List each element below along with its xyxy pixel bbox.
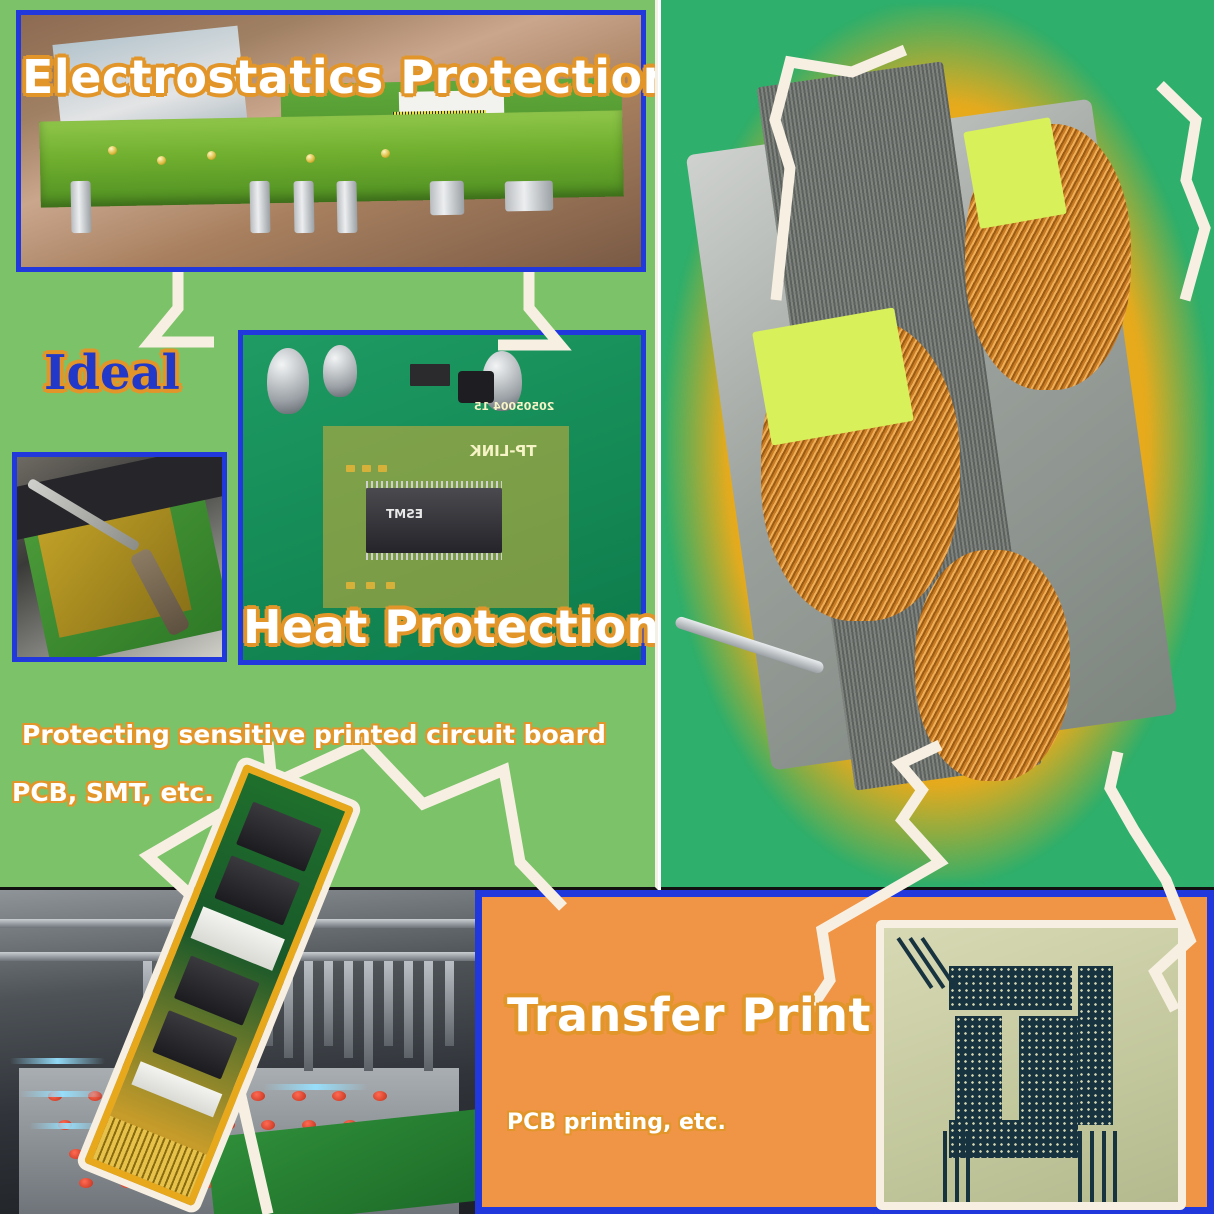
photo-detail-vga — [504, 181, 553, 212]
photo-detail-smd-pad — [346, 465, 355, 472]
electric-motor-photo — [661, 0, 961, 245]
photo-detail-fin — [384, 961, 393, 1045]
photo-detail-nozzle-dot — [251, 1091, 265, 1101]
photo-detail-trace — [1090, 1131, 1094, 1202]
photo-detail-spray-jet — [19, 1091, 105, 1097]
photo-detail-insulation-tape — [963, 117, 1067, 228]
photo-detail-nozzle-dot — [69, 1149, 83, 1159]
photo-detail-inductor — [458, 371, 494, 403]
photo-detail-trace — [1113, 1131, 1117, 1202]
photo-detail-jack — [293, 181, 314, 233]
photo-detail-dram-chip — [214, 855, 301, 925]
ideal-label: Ideal — [44, 345, 180, 401]
photo-detail-jack — [250, 181, 271, 233]
photo-detail-dram-chip — [152, 1010, 239, 1080]
photo-detail-jack — [430, 181, 465, 216]
photo-detail-spray-jet — [29, 1123, 105, 1129]
photo-detail-spray-jet — [10, 1058, 106, 1064]
photo-detail-nozzle-dot — [373, 1091, 387, 1101]
title-electrostatics-protection: Electrostatics Protection — [22, 50, 658, 104]
photo-detail-dram-chip — [173, 956, 260, 1026]
photo-detail-solder-joint — [381, 149, 390, 158]
title-heat-protection: Heat Protection — [243, 600, 658, 654]
photo-detail-solder-joint — [306, 154, 315, 163]
photo-detail-trace — [1102, 1131, 1106, 1202]
photo-detail-nozzle-dot — [332, 1091, 346, 1101]
photo-detail-trace — [1078, 1131, 1082, 1202]
photo-detail-pad-array — [949, 966, 1072, 1010]
photo-detail-fin — [304, 961, 313, 1071]
photo-detail-smd-pad — [366, 582, 375, 589]
photo-detail-spray-jet — [263, 1084, 368, 1090]
photo-detail-fin — [364, 961, 373, 1071]
caption-pcb-printing: PCB printing, etc. — [507, 1110, 726, 1135]
photo-detail-solder-joint — [108, 146, 117, 155]
photo-detail-trace — [966, 1131, 970, 1202]
panel-insulation-protection: Insulation Protection Protect electrical… — [661, 0, 1214, 890]
photo-detail-smd-pad — [362, 465, 371, 472]
pcb-board-number-label: 20505004 15 — [474, 400, 554, 413]
photo-detail-solder-joint — [207, 151, 216, 160]
photo-detail-fin — [324, 961, 333, 1045]
soldering-iron-photo — [12, 452, 227, 662]
photo-detail-pad-array — [955, 1016, 1002, 1120]
photo-detail-capacitor — [267, 348, 309, 414]
poster-canvas: Ideal TP-LINK 20505004 15 ESMT — [0, 0, 1214, 1214]
pcb-brand-label: TP-LINK — [470, 442, 537, 460]
photo-detail-smd-pad — [386, 582, 395, 589]
photo-detail-capacitor — [323, 345, 357, 397]
photo-detail-ic — [410, 364, 450, 386]
photo-detail-nozzle-dot — [292, 1091, 306, 1101]
photo-detail-pad-array — [1019, 1016, 1078, 1120]
photo-detail-trace — [955, 1131, 959, 1202]
photo-detail-fin — [344, 961, 353, 1058]
photo-detail-fin — [424, 961, 433, 1071]
panel-electrostatics-protection: Ideal TP-LINK 20505004 15 ESMT — [0, 0, 658, 890]
chip-brand-label: ESMT — [386, 507, 423, 521]
title-transfer-print: Transfer Print — [507, 988, 871, 1042]
photo-detail-fin — [404, 961, 413, 1058]
photo-detail-pad-array — [1078, 966, 1113, 1125]
photo-detail-jack — [337, 181, 358, 233]
photo-detail-smd-pad — [378, 465, 387, 472]
pcb-artwork-photo — [876, 920, 1186, 1210]
photo-detail-jack — [70, 181, 91, 233]
photo-detail-smd-pad — [346, 582, 355, 589]
photo-detail-fin — [445, 961, 454, 1045]
caption-pcb-smt: PCB, SMT, etc. — [12, 778, 214, 807]
caption-protecting-pcb: Protecting sensitive printed circuit boa… — [22, 720, 606, 749]
photo-detail-dram-chip — [236, 801, 323, 871]
photo-detail-trace — [943, 1131, 947, 1202]
photo-detail-copper-winding — [915, 550, 1070, 781]
